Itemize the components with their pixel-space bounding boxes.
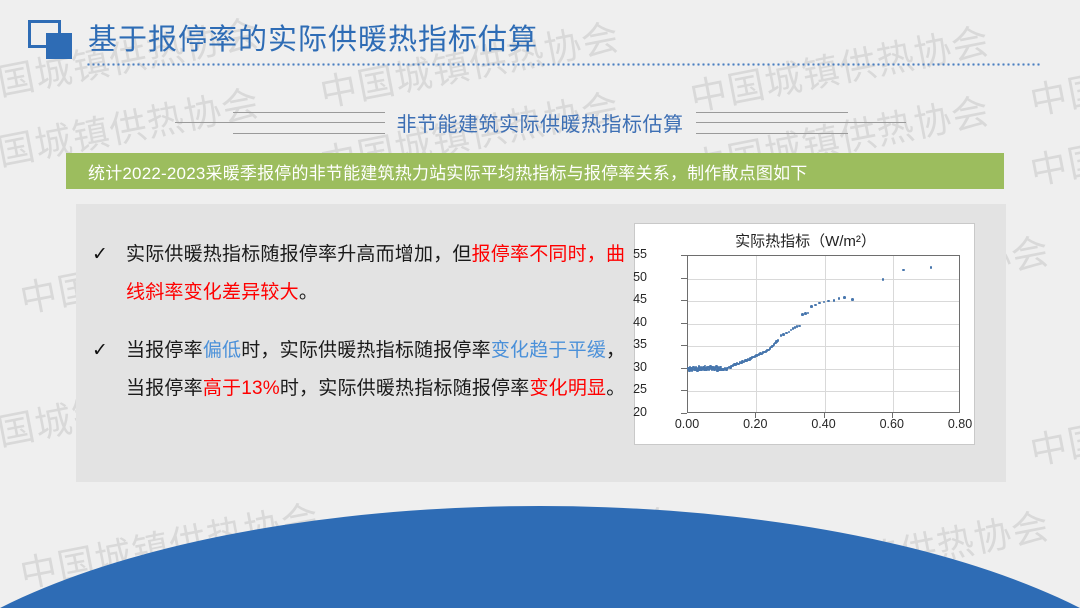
chart-data-point [902, 269, 905, 272]
chart-xtick-mark [755, 413, 756, 418]
bullet-item: ✓当报停率偏低时，实际供暖热指标随报停率变化趋于平缓，当报停率高于13%时，实际… [88, 332, 628, 408]
page-title: 基于报停率的实际供暖热指标估算 [88, 16, 538, 58]
slide-header: 基于报停率的实际供暖热指标估算 [0, 0, 1080, 76]
scatter-chart: 实际热指标（W/m²） 20253035404550550.000.200.40… [634, 223, 975, 445]
chart-plot-area [687, 255, 960, 413]
chart-gridline-h [688, 391, 959, 392]
chart-xtick-label: 0.20 [729, 417, 781, 431]
chart-ytick-label: 50 [607, 270, 647, 284]
chart-ytick-label: 35 [607, 337, 647, 351]
chart-gridline-h [688, 369, 959, 370]
bullet-list: ✓实际供暖热指标随报停率升高而增加，但报停率不同时，曲线斜率变化差异较大。✓当报… [88, 236, 628, 428]
chart-gridline-v [893, 256, 894, 412]
chart-xtick-label: 0.40 [798, 417, 850, 431]
chart-data-point [807, 312, 810, 315]
chart-xtick-label: 0.80 [934, 417, 986, 431]
bullet-text: 实际供暖热指标随报停率升高而增加，但报停率不同时，曲线斜率变化差异较大。 [126, 236, 628, 312]
chart-ytick-label: 30 [607, 360, 647, 374]
bullet-text: 当报停率偏低时，实际供暖热指标随报停率变化趋于平缓，当报停率高于13%时，实际供… [126, 332, 628, 408]
subtitle-decor-left [155, 105, 385, 139]
chart-ytick-mark [681, 300, 687, 301]
chart-data-point [777, 339, 780, 342]
chart-ytick-mark [681, 323, 687, 324]
chart-ytick-mark [681, 278, 687, 279]
chart-data-point [851, 298, 854, 301]
chart-xtick-label: 0.00 [661, 417, 713, 431]
chart-ytick-label: 25 [607, 382, 647, 396]
bullet-text-segment: 时，实际供暖热指标随报停率 [280, 378, 530, 399]
banner-text: 统计2022-2023采暖季报停的非节能建筑热力站实际平均热指标与报停率关系，制… [66, 159, 808, 184]
chart-gridline-h [688, 324, 959, 325]
watermark-text: 中国城镇供热协会 [1025, 364, 1080, 475]
bullet-text-segment: 偏低 [203, 340, 241, 361]
chart-ytick-label: 40 [607, 315, 647, 329]
chart-ytick-label: 20 [607, 405, 647, 419]
green-banner: 统计2022-2023采暖季报停的非节能建筑热力站实际平均热指标与报停率关系，制… [66, 153, 1004, 189]
chart-gridline-h [688, 346, 959, 347]
chart-gridline-h [688, 279, 959, 280]
check-icon: ✓ [88, 332, 126, 408]
chart-ytick-mark [681, 255, 687, 256]
chart-gridline-v [756, 256, 757, 412]
chart-ytick-mark [681, 413, 687, 414]
bullet-text-segment: 时，实际供暖热指标随报停率 [241, 340, 491, 361]
subtitle-decor-right [696, 105, 926, 139]
chart-data-point [810, 305, 813, 308]
chart-data-point [818, 302, 821, 305]
bullet-item: ✓实际供暖热指标随报停率升高而增加，但报停率不同时，曲线斜率变化差异较大。 [88, 236, 628, 312]
chart-data-point [833, 299, 836, 302]
chart-ytick-mark [681, 345, 687, 346]
chart-data-point [930, 266, 933, 269]
chart-data-point [843, 296, 846, 299]
bullet-text-segment: 变化明显 [529, 378, 606, 399]
chart-ytick-label: 45 [607, 292, 647, 306]
two-squares-icon [28, 20, 78, 62]
bottom-wave-decoration [0, 506, 1080, 608]
chart-ytick-mark [681, 390, 687, 391]
chart-title: 实际热指标（W/m²） [635, 230, 976, 251]
chart-xtick-mark [824, 413, 825, 418]
square-filled-shape [46, 33, 72, 59]
slide-root: 中国城镇供热协会中国城镇供热协会中国城镇供热协会中国城镇供热协会中国城镇供热协会… [0, 0, 1080, 608]
chart-data-point [798, 325, 801, 328]
chart-ytick-mark [681, 368, 687, 369]
subtitle-row: 非节能建筑实际供暖热指标估算 [0, 100, 1080, 144]
chart-xtick-label: 0.60 [866, 417, 918, 431]
bullet-text-segment: 变化趋于平缓 [491, 340, 606, 361]
chart-gridline-v [825, 256, 826, 412]
bullet-text-segment: 高于13% [203, 378, 280, 399]
chart-xtick-mark [892, 413, 893, 418]
chart-ytick-label: 55 [607, 247, 647, 261]
check-icon: ✓ [88, 236, 126, 312]
subtitle-text: 非节能建筑实际供暖热指标估算 [385, 108, 696, 137]
bullet-text-segment: 。 [299, 282, 318, 303]
chart-data-point [814, 304, 817, 307]
bullet-text-segment: 实际供暖热指标随报停率升高而增加，但 [126, 244, 472, 265]
bullet-text-segment: 当报停率 [126, 340, 203, 361]
chart-data-point [838, 297, 841, 300]
header-dotted-rule [86, 63, 1040, 66]
